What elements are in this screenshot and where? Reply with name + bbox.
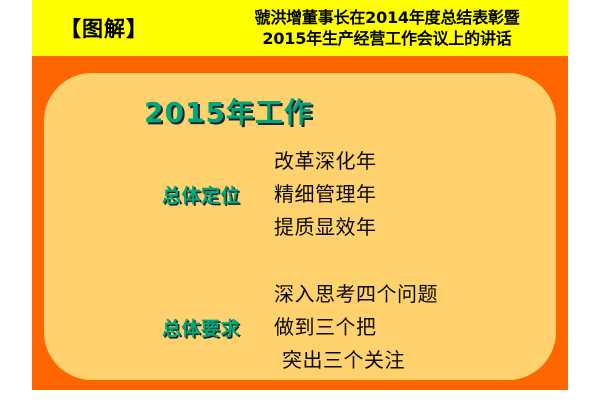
group-line-item: 做到三个把 [274, 311, 438, 344]
group-label-positioning: 总体定位 [162, 181, 274, 208]
header-title-line-1: 虢洪增董事长在2014年度总结表彰暨 [222, 7, 552, 28]
group-line-item: 提质显效年 [274, 211, 377, 244]
group-lines-positioning: 改革深化年 精细管理年 提质显效年 [274, 145, 377, 244]
group-line-item: 深入思考四个问题 [274, 278, 438, 311]
header-tag-label: 【图解】 [60, 13, 148, 43]
group-line-item: 改革深化年 [274, 145, 377, 178]
group-label-requirements: 总体要求 [162, 314, 274, 341]
header-banner: 【图解】 虢洪增董事长在2014年度总结表彰暨 2015年生产经营工作会议上的讲… [32, 0, 568, 56]
group-lines-requirements: 深入思考四个问题 做到三个把 突出三个关注 [274, 278, 438, 377]
orange-frame: 2015年工作 总体定位 改革深化年 精细管理年 提质显效年 总体要求 深入思考… [32, 56, 568, 390]
content-group-requirements: 总体要求 深入思考四个问题 做到三个把 突出三个关注 [162, 278, 438, 377]
content-group-positioning: 总体定位 改革深化年 精细管理年 提质显效年 [162, 145, 377, 244]
infographic-poster: 【图解】 虢洪增董事长在2014年度总结表彰暨 2015年生产经营工作会议上的讲… [0, 0, 600, 400]
group-line-item: 突出三个关注 [274, 344, 438, 377]
section-heading: 2015年工作 [144, 91, 313, 131]
header-title: 虢洪增董事长在2014年度总结表彰暨 2015年生产经营工作会议上的讲话 [222, 7, 552, 49]
header-title-line-2: 2015年生产经营工作会议上的讲话 [222, 28, 552, 49]
content-panel: 2015年工作 总体定位 改革深化年 精细管理年 提质显效年 总体要求 深入思考… [44, 73, 556, 380]
group-line-item: 精细管理年 [274, 178, 377, 211]
